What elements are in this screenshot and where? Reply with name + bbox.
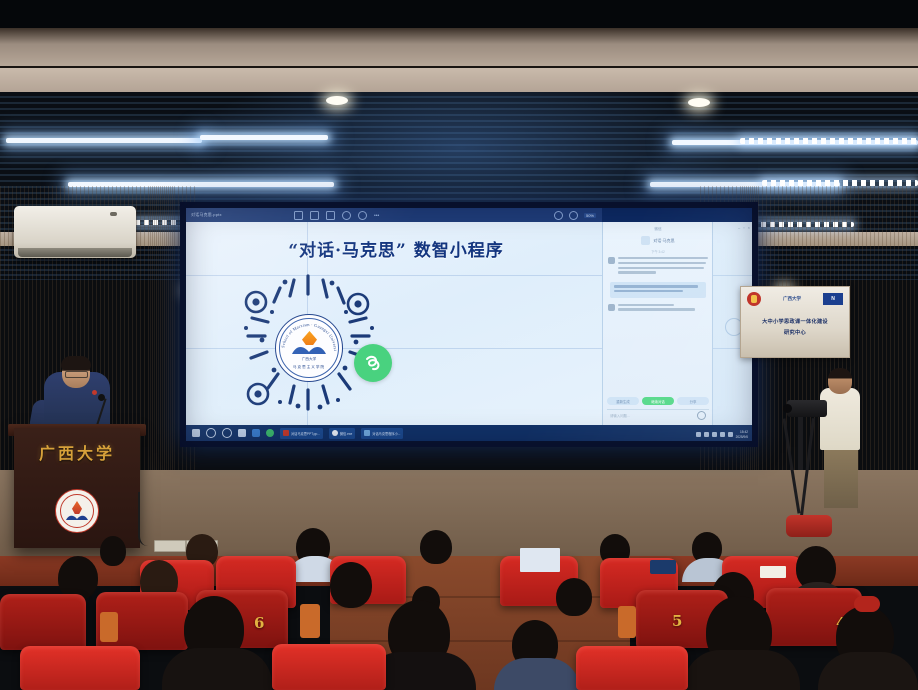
folder-icon bbox=[364, 430, 370, 436]
slide-title: “对话·马克思” 数智小程序 bbox=[200, 236, 592, 261]
wall-power-outlet bbox=[154, 540, 186, 552]
chat-window-title: 微信 bbox=[603, 222, 713, 232]
list-icon[interactable] bbox=[326, 211, 335, 220]
chat-app-header: 对话·马克思 bbox=[603, 236, 713, 245]
chat-message bbox=[603, 254, 713, 279]
projection-screen: 对话马克思.pptx ••• 50% “对话·马克思” 数智小程序 bbox=[186, 208, 752, 441]
seat-number: 5 bbox=[672, 612, 682, 630]
air-conditioner-indicator-icon bbox=[110, 212, 117, 216]
podium-crest-icon bbox=[55, 489, 99, 533]
crest-inner-ring bbox=[60, 494, 94, 528]
qr-logo-school: 马克思主义学院 bbox=[276, 365, 342, 370]
chat-message bbox=[603, 301, 713, 317]
armrest bbox=[618, 606, 636, 638]
explorer-icon[interactable] bbox=[252, 429, 260, 437]
share-label: 分享 bbox=[690, 399, 697, 404]
auditorium-scene: 对话马克思.pptx ••• 50% “对话·马克思” 数智小程序 bbox=[0, 0, 918, 690]
chat-input-placeholder: 请输入问题… bbox=[610, 413, 630, 418]
speaker-hair bbox=[61, 356, 91, 370]
document-paper bbox=[760, 566, 786, 578]
chat-action-buttons[interactable]: 重新生成 继续对话 分享 bbox=[607, 397, 709, 405]
taskbar-app-label: 对话马克思PPT.pp... bbox=[291, 431, 320, 436]
system-tray[interactable]: 15:42 2025/9/6 bbox=[696, 430, 748, 439]
videographer-head bbox=[828, 368, 852, 394]
banner-line-1: 大中小学思政课一体化建设 bbox=[741, 318, 849, 325]
zoom-in-icon[interactable] bbox=[569, 211, 578, 220]
ceiling-panel-band bbox=[0, 68, 918, 94]
laptop-screen bbox=[520, 548, 560, 572]
audience-head bbox=[100, 536, 126, 566]
audience-shoulders bbox=[162, 648, 272, 690]
speaker-glasses bbox=[65, 371, 88, 378]
start-icon[interactable] bbox=[192, 429, 200, 437]
taskbar-app-powerpoint[interactable]: 对话马克思PPT.pp... bbox=[280, 428, 323, 439]
zoom-control-group[interactable]: 50% bbox=[554, 211, 596, 220]
undo-icon[interactable] bbox=[310, 211, 319, 220]
led-strip bbox=[6, 138, 202, 143]
regenerate-button[interactable]: 重新生成 bbox=[607, 397, 639, 405]
slide-canvas: “对话·马克思” 数智小程序 bbox=[186, 222, 602, 425]
seat bbox=[272, 644, 386, 690]
university-emblem-icon bbox=[747, 292, 761, 306]
qr-logo-institution: 广西大学 bbox=[276, 357, 342, 362]
presentation-file-title: 对话马克思.pptx bbox=[191, 212, 222, 218]
continue-label: 继续对话 bbox=[651, 399, 665, 404]
maximize-icon[interactable]: ▫ bbox=[743, 225, 744, 230]
chevron-up-icon[interactable] bbox=[696, 432, 701, 437]
power-cable bbox=[138, 492, 158, 546]
partner-logo-mark: N bbox=[831, 296, 835, 302]
audience-head bbox=[420, 530, 452, 564]
led-strip bbox=[200, 135, 328, 140]
video-camera bbox=[787, 400, 827, 417]
clock-icon[interactable] bbox=[358, 211, 367, 220]
zoom-level-label[interactable]: 50% bbox=[584, 213, 596, 218]
tablet-device bbox=[650, 560, 676, 574]
audience-shoulders bbox=[684, 650, 800, 690]
close-icon[interactable]: × bbox=[748, 225, 750, 230]
chat-quote-block bbox=[610, 282, 706, 298]
taskbar-app-label: 对话马克思程序小... bbox=[372, 431, 400, 436]
presentation-app-toolbar: 对话马克思.pptx ••• 50% bbox=[186, 208, 602, 222]
regenerate-label: 重新生成 bbox=[616, 399, 630, 404]
tripod-column bbox=[798, 414, 803, 470]
armrest bbox=[100, 612, 118, 642]
led-dotted-strip bbox=[740, 138, 918, 144]
microphone-head-icon bbox=[98, 394, 105, 401]
hair-bow bbox=[854, 596, 880, 612]
search-icon[interactable] bbox=[206, 428, 216, 438]
network-icon[interactable] bbox=[704, 432, 709, 437]
powerpoint-icon bbox=[283, 430, 289, 436]
videographer-torso bbox=[820, 388, 860, 450]
zoom-out-icon[interactable] bbox=[554, 211, 563, 220]
crest-wave-icon bbox=[291, 343, 327, 356]
ceiling-panel-upper bbox=[0, 28, 918, 68]
cut-icon[interactable] bbox=[294, 211, 303, 220]
chat-input-bar[interactable]: 请输入问题… bbox=[607, 409, 709, 420]
podium-institution-name: 广西大学 bbox=[14, 440, 140, 464]
videographer-legs bbox=[824, 448, 858, 508]
speaker-lapel-badge bbox=[92, 390, 97, 395]
windows-taskbar[interactable]: 对话马克思PPT.pp... 微信.exe 对话马克思程序小... 15:42 … bbox=[186, 425, 752, 441]
task-view-icon[interactable] bbox=[222, 428, 232, 438]
widgets-icon[interactable] bbox=[238, 429, 246, 437]
seat bbox=[0, 594, 86, 650]
miniprogram-icon[interactable] bbox=[354, 344, 392, 382]
seat bbox=[20, 646, 140, 690]
seat-number: 6 bbox=[254, 614, 264, 632]
taskbar-clock[interactable]: 15:42 2025/9/6 bbox=[736, 430, 748, 439]
continue-button[interactable]: 继续对话 bbox=[642, 397, 674, 405]
clock-date: 2025/9/6 bbox=[736, 435, 748, 439]
partner-logo-icon: N bbox=[823, 293, 843, 305]
emoji-icon[interactable] bbox=[697, 411, 706, 420]
banner-line-2: 研究中心 bbox=[741, 329, 849, 336]
share-button[interactable]: 分享 bbox=[677, 397, 709, 405]
chat-app-icon bbox=[641, 236, 650, 245]
volume-icon[interactable] bbox=[712, 432, 717, 437]
downlight-icon bbox=[326, 96, 348, 105]
crest-wave-icon bbox=[66, 513, 88, 521]
bot-avatar bbox=[608, 304, 615, 311]
ceiling-void bbox=[0, 0, 918, 30]
toolbar-icon-group[interactable]: ••• bbox=[294, 211, 379, 220]
air-conditioner-vent bbox=[18, 248, 132, 257]
audience-head bbox=[556, 578, 592, 616]
floor-seam bbox=[320, 640, 640, 642]
wechat-chat-panel[interactable]: 微信 对话·马克思 下午 3:42 bbox=[602, 222, 713, 425]
ime-icon[interactable] bbox=[728, 432, 733, 437]
banner-org-name: 广西大学 bbox=[783, 296, 801, 302]
research-center-banner: 广西大学 N 大中小学思政课一体化建设 研究中心 bbox=[740, 286, 850, 358]
camera-bag bbox=[786, 515, 832, 537]
qr-center-logo: School of Marxism · Guangxi University 广… bbox=[275, 314, 343, 382]
taskbar-app-wechat[interactable]: 微信.exe bbox=[329, 428, 355, 439]
chat-app-name: 对话·马克思 bbox=[653, 238, 674, 244]
audience-shoulders bbox=[818, 652, 918, 690]
pane-guide bbox=[713, 275, 752, 276]
window-controls[interactable]: – ▫ × bbox=[738, 225, 750, 230]
minimize-icon[interactable]: – bbox=[738, 225, 740, 230]
more-icon[interactable]: ••• bbox=[374, 213, 379, 219]
miniprogram-glyph bbox=[361, 351, 385, 375]
comment-icon[interactable] bbox=[342, 211, 351, 220]
downlight-icon bbox=[688, 98, 710, 107]
audience-head bbox=[330, 562, 372, 608]
taskbar-app-folder[interactable]: 对话马克思程序小... bbox=[361, 428, 403, 439]
battery-icon[interactable] bbox=[720, 432, 725, 437]
wechat-taskbar-icon[interactable] bbox=[266, 429, 274, 437]
taskbar-app-label: 微信.exe bbox=[340, 431, 352, 436]
armrest bbox=[300, 604, 320, 638]
banner-logo-row: 广西大学 N bbox=[741, 287, 849, 306]
seat bbox=[576, 646, 688, 690]
bot-avatar bbox=[608, 257, 615, 264]
chat-message-body bbox=[618, 257, 708, 276]
camera-lens-icon bbox=[783, 404, 792, 413]
chat-message-body bbox=[618, 304, 708, 314]
wechat-icon bbox=[332, 430, 338, 436]
